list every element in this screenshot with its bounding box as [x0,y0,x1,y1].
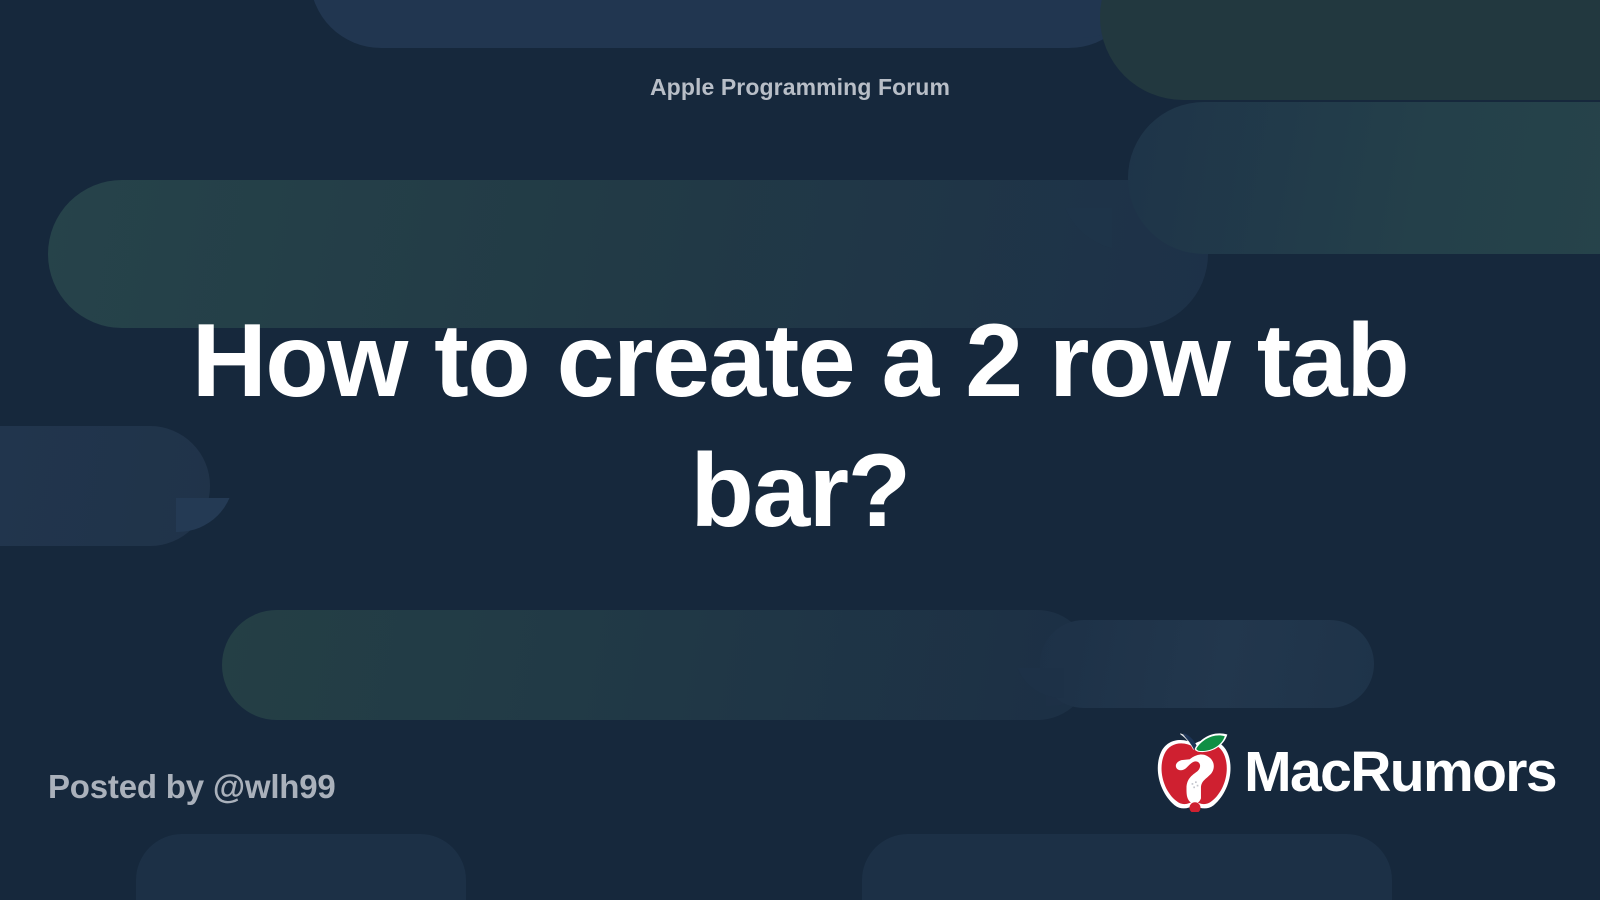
page-title: How to create a 2 row tab bar? [140,296,1460,556]
chat-bubble-icon [136,834,466,900]
forum-name-label: Apple Programming Forum [0,74,1600,101]
macrumors-logo: MacRumors [1152,732,1556,812]
chat-bubble-icon [222,610,1092,720]
chat-bubble-tail-icon [1048,208,1112,254]
chat-bubble-icon [862,834,1392,900]
chat-bubble-icon [1040,620,1374,708]
chat-bubble-icon [1128,102,1600,254]
forum-share-card: Apple Programming Forum How to create a … [0,0,1600,900]
chat-bubble-tail-icon [1082,2,1146,48]
chat-bubble-icon [310,0,1140,48]
chat-bubble-tail-icon [1046,672,1110,718]
apple-question-mark-logo-icon [1152,732,1238,812]
chat-bubble-tail-icon [1000,668,1064,714]
macrumors-wordmark: MacRumors [1244,744,1556,801]
posted-by-label: Posted by @wlh99 [48,768,336,806]
post-title-text: How to create a 2 row tab bar? [140,296,1460,556]
